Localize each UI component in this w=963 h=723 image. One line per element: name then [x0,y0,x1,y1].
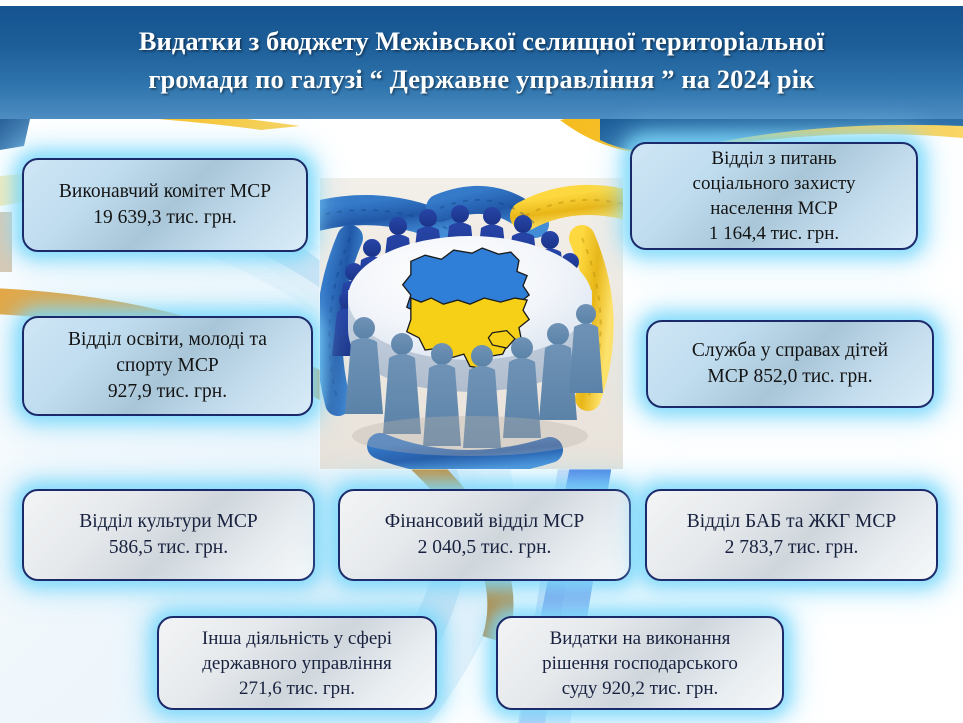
center-photo [320,178,623,469]
title-line-2: громади по галузі “ Державне управління … [148,64,814,94]
callout-line-1: Фінансовий відділ МСР [350,509,619,535]
callout-other-public-administration-activity[interactable]: Інша діяльність у сфері державного управ… [157,616,437,710]
callout-social-protection-department[interactable]: Відділ з питань соціального захисту насе… [630,142,918,250]
callout-executive-committee[interactable]: Виконавчий комітет МСР 19 639,3 тис. грн… [22,158,308,252]
callout-line-2: спорту МСР [34,353,301,379]
callout-line-1: Виконавчий комітет МСР [34,179,296,205]
title-line-1: Видатки з бюджету Межівської селищної те… [139,26,825,56]
callout-line-1: Відділ освіти, молоді та [34,327,301,353]
callout-line-2: рішення господарського [508,651,772,676]
callout-line-1: Інша діяльність у сфері [169,626,425,651]
callout-line-2: соціального захисту [642,171,906,196]
callout-line-4: 1 164,4 тис. грн. [642,221,906,246]
callout-bab-housing-utilities-department[interactable]: Відділ БАБ та ЖКГ МСР 2 783,7 тис. грн. [645,489,938,581]
callout-education-youth-sport-department[interactable]: Відділ освіти, молоді та спорту МСР 927,… [22,316,313,416]
callout-line-1: Відділ БАБ та ЖКГ МСР [657,509,926,535]
callout-line-2: 2 040,5 тис. грн. [350,535,619,561]
callout-line-2: 19 639,3 тис. грн. [34,205,296,231]
callout-line-3: 927,9 тис. грн. [34,379,301,405]
callout-line-3: суду 920,2 тис. грн. [508,676,772,701]
callout-line-2: МСР 852,0 тис. грн. [658,364,922,390]
page-title: Видатки з бюджету Межівської селищної те… [0,22,963,98]
callout-culture-department[interactable]: Відділ культури МСР 586,5 тис. грн. [22,489,315,581]
callout-line-1: Видатки на виконання [508,626,772,651]
callout-commercial-court-decision-expenses[interactable]: Видатки на виконання рішення господарськ… [496,616,784,710]
council-table-illustration [320,178,623,469]
callout-line-2: 2 783,7 тис. грн. [657,535,926,561]
callout-childrens-affairs-service[interactable]: Служба у справах дітей МСР 852,0 тис. гр… [646,320,934,408]
callout-line-1: Відділ культури МСР [34,509,303,535]
callout-line-3: населення МСР [642,196,906,221]
callout-line-2: 586,5 тис. грн. [34,535,303,561]
callout-finance-department[interactable]: Фінансовий відділ МСР 2 040,5 тис. грн. [338,489,631,581]
callout-line-3: 271,6 тис. грн. [169,676,425,701]
callout-line-1: Відділ з питань [642,146,906,171]
callout-line-1: Служба у справах дітей [658,338,922,364]
slide-root: Видатки з бюджету Межівської селищної те… [0,0,963,723]
callout-line-2: державного управління [169,651,425,676]
